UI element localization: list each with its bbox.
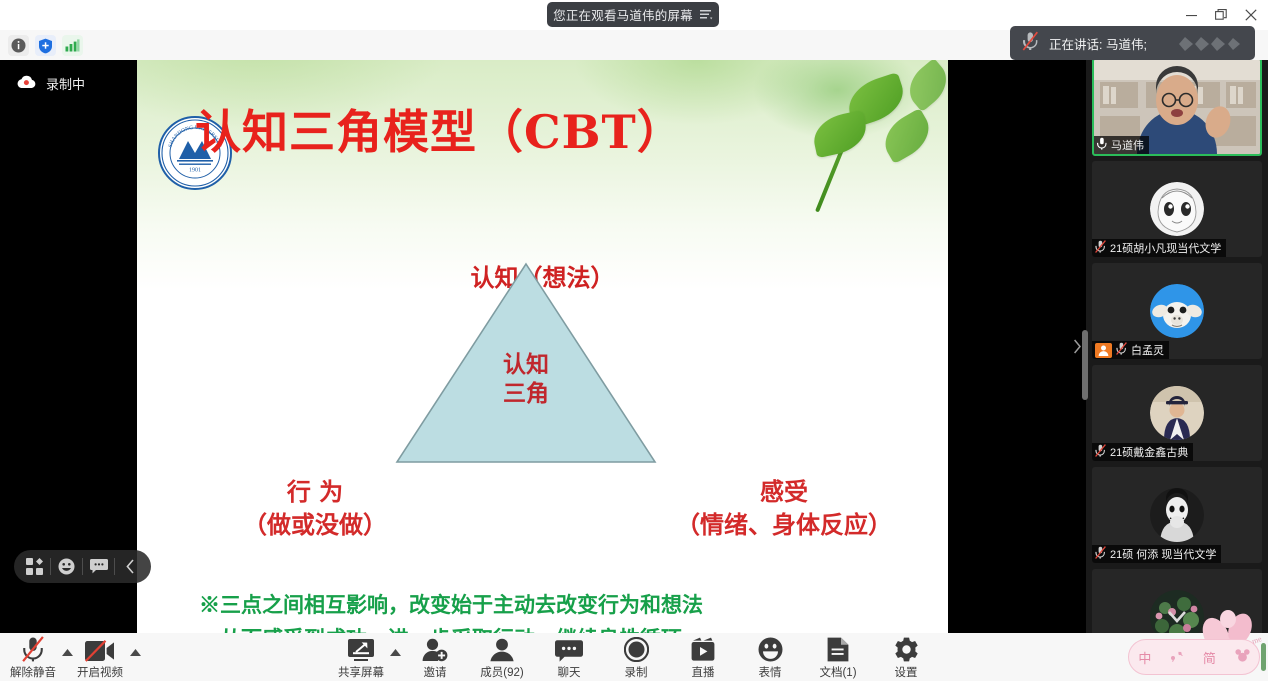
toolbar-record-button[interactable]: 录制: [604, 636, 668, 680]
emoji-icon[interactable]: [51, 551, 82, 582]
cloud-record-icon: [16, 75, 37, 92]
ime-language-toggle[interactable]: 中: [1138, 648, 1151, 667]
mouse-ears-icon[interactable]: [1235, 649, 1250, 665]
share-options-caret-icon[interactable]: [390, 649, 401, 658]
recording-label: 录制中: [46, 74, 85, 93]
slide-note: ※三点之间相互影响，改变始于主动去改变行为和想法 ，从而感受到成功，进一步采取行…: [199, 588, 899, 633]
svg-text:1901: 1901: [189, 168, 201, 174]
avatar: [1150, 386, 1204, 440]
participant-tile[interactable]: 21硕 何添 现当代文学: [1092, 467, 1262, 563]
slide-note-line2: ，从而感受到成功，进一步采取行动，继续良性循环。: [199, 622, 899, 633]
toolbar-share-screen-button[interactable]: 共享屏幕: [329, 636, 393, 680]
participant-tile[interactable]: 马道伟: [1092, 60, 1262, 156]
toolbar-emoji-button[interactable]: 表情: [738, 636, 802, 680]
cognitive-triangle-diagram: 认知 三角: [391, 258, 661, 468]
participant-name-bar: 21硕胡小凡现当代文学: [1092, 239, 1226, 257]
participant-name-bar: 白孟灵: [1092, 341, 1169, 359]
toolbar-label: 聊天: [558, 664, 581, 680]
participant-name-bar: 21硕戴金鑫古典: [1092, 443, 1193, 461]
toolbar-unmute-button[interactable]: 解除静音: [1, 636, 65, 680]
toolbar-label: 共享屏幕: [338, 664, 384, 680]
chat-icon[interactable]: [83, 551, 114, 582]
participant-panel-scrollbar[interactable]: [1082, 330, 1088, 400]
apps-grid-icon[interactable]: [19, 551, 50, 582]
toolbar-document-button[interactable]: 文档(1): [806, 636, 870, 680]
toolbar-invite-button[interactable]: 邀请: [403, 636, 467, 680]
participant-tile[interactable]: 白孟灵: [1092, 263, 1262, 359]
toolbar-label: 邀请: [424, 664, 447, 680]
participant-name-bar: 21硕 何添 现当代文学: [1092, 545, 1221, 563]
mic-muted-icon: [1095, 444, 1106, 460]
participant-name: 21硕戴金鑫古典: [1110, 444, 1188, 460]
triangle-label-line2: 三角: [391, 379, 661, 408]
avatar: [1150, 590, 1204, 633]
toolbar-label: 录制: [625, 664, 648, 680]
ime-floating-bar[interactable]: 中 简: [1128, 639, 1260, 675]
host-badge: [1095, 343, 1112, 358]
participant-name: 白孟灵: [1131, 342, 1164, 358]
toolbar-label: 开启视频: [77, 664, 123, 680]
active-speaker-toast: 正在讲话: 马道伟;: [1010, 26, 1255, 60]
collapse-left-icon[interactable]: [115, 551, 146, 582]
record-circle-icon: [624, 636, 649, 662]
participant-name-bar: 马道伟: [1094, 136, 1149, 154]
toolbar-label: 成员(92): [480, 664, 523, 680]
meeting-toolbar: 解除静音 开启视频 共享屏幕 邀请: [0, 633, 1268, 681]
chat-bubble-icon: [555, 636, 583, 662]
punctuation-icon[interactable]: [1170, 650, 1184, 665]
participant-tile[interactable]: 21硕戴金鑫古典: [1092, 365, 1262, 461]
stage-mini-toolbar: [14, 550, 151, 583]
active-speaker-text: 正在讲话: 马道伟;: [1049, 34, 1147, 53]
screen-share-banner[interactable]: 您正在观看马道伟的屏幕: [547, 2, 719, 27]
screen-share-banner-text: 您正在观看马道伟的屏幕: [553, 5, 693, 24]
live-broadcast-icon: [690, 636, 716, 662]
mic-muted-icon: [1095, 240, 1106, 256]
feeling-line2: （情绪、身体反应）: [634, 508, 934, 541]
zoom-meeting-window: 您正在观看马道伟的屏幕: [0, 0, 1268, 681]
toolbar-participants-button[interactable]: 成员(92): [470, 636, 534, 680]
info-icon[interactable]: [8, 35, 29, 56]
mic-muted-icon: [1095, 546, 1106, 562]
participants-icon: [489, 636, 515, 662]
participant-video-panel: 马道伟 21硕胡小凡现当代文学: [1086, 60, 1268, 633]
document-icon: [827, 636, 849, 662]
emoji-smile-icon: [758, 636, 783, 662]
slide-note-line1: ※三点之间相互影响，改变始于主动去改变行为和想法: [199, 588, 899, 622]
toolbar-label: 表情: [759, 664, 782, 680]
toolbar-chat-button[interactable]: 聊天: [537, 636, 601, 680]
toolbar-label: 设置: [895, 664, 918, 680]
invite-person-icon: [422, 636, 448, 662]
mic-muted-icon: [1022, 31, 1039, 56]
mic-muted-icon: [1116, 342, 1127, 358]
shared-screen-stage[interactable]: 录制中 1901: [0, 60, 1086, 633]
participant-name: 马道伟: [1111, 137, 1144, 153]
toolbar-settings-button[interactable]: 设置: [874, 636, 938, 680]
recording-indicator: 录制中: [16, 74, 85, 93]
signal-bars-icon[interactable]: [62, 35, 83, 56]
toolbar-live-button[interactable]: 直播: [671, 636, 735, 680]
triangle-center-label: 认知 三角: [391, 350, 661, 409]
toolbar-label: 文档(1): [819, 664, 856, 680]
triangle-label-line1: 认知: [391, 350, 661, 379]
participant-tile[interactable]: 21硕胡小凡现当代文学: [1092, 161, 1262, 257]
avatar: [1150, 488, 1204, 542]
participant-name: 21硕 何添 现当代文学: [1110, 546, 1216, 562]
hamburger-menu-icon[interactable]: [700, 9, 713, 22]
diagram-node-behavior: 行 为 （做或没做）: [195, 475, 435, 541]
behavior-line2: （做或没做）: [195, 508, 435, 541]
avatar: [1150, 284, 1204, 338]
mic-on-icon: [1097, 137, 1107, 153]
video-off-icon: [85, 636, 115, 662]
shield-icon[interactable]: [35, 35, 56, 56]
gear-icon: [894, 636, 919, 662]
toolbar-label: 解除静音: [10, 664, 56, 680]
behavior-line1: 行 为: [195, 475, 435, 508]
mic-muted-icon: [21, 636, 45, 662]
slide-green-header-background: [137, 60, 948, 290]
toolbar-start-video-button[interactable]: 开启视频: [68, 636, 132, 680]
feeling-line1: 感受: [634, 475, 934, 508]
presentation-slide: 1901 SHANDONG UNIVERSITY 认知三角模型（CBT） 认知（…: [137, 60, 948, 633]
video-options-caret-icon[interactable]: [130, 649, 141, 658]
avatar: [1150, 182, 1204, 236]
slide-title: 认知三角模型（CBT）: [195, 96, 935, 162]
ime-scroll-indicator: [1261, 643, 1266, 671]
ime-mode-toggle[interactable]: 简: [1203, 648, 1216, 667]
audio-wave-icon: [1179, 34, 1241, 54]
participant-name: 21硕胡小凡现当代文学: [1110, 240, 1221, 256]
share-screen-icon: [346, 636, 376, 662]
diagram-node-feeling: 感受 （情绪、身体反应）: [634, 475, 934, 541]
toolbar-label: 直播: [692, 664, 715, 680]
